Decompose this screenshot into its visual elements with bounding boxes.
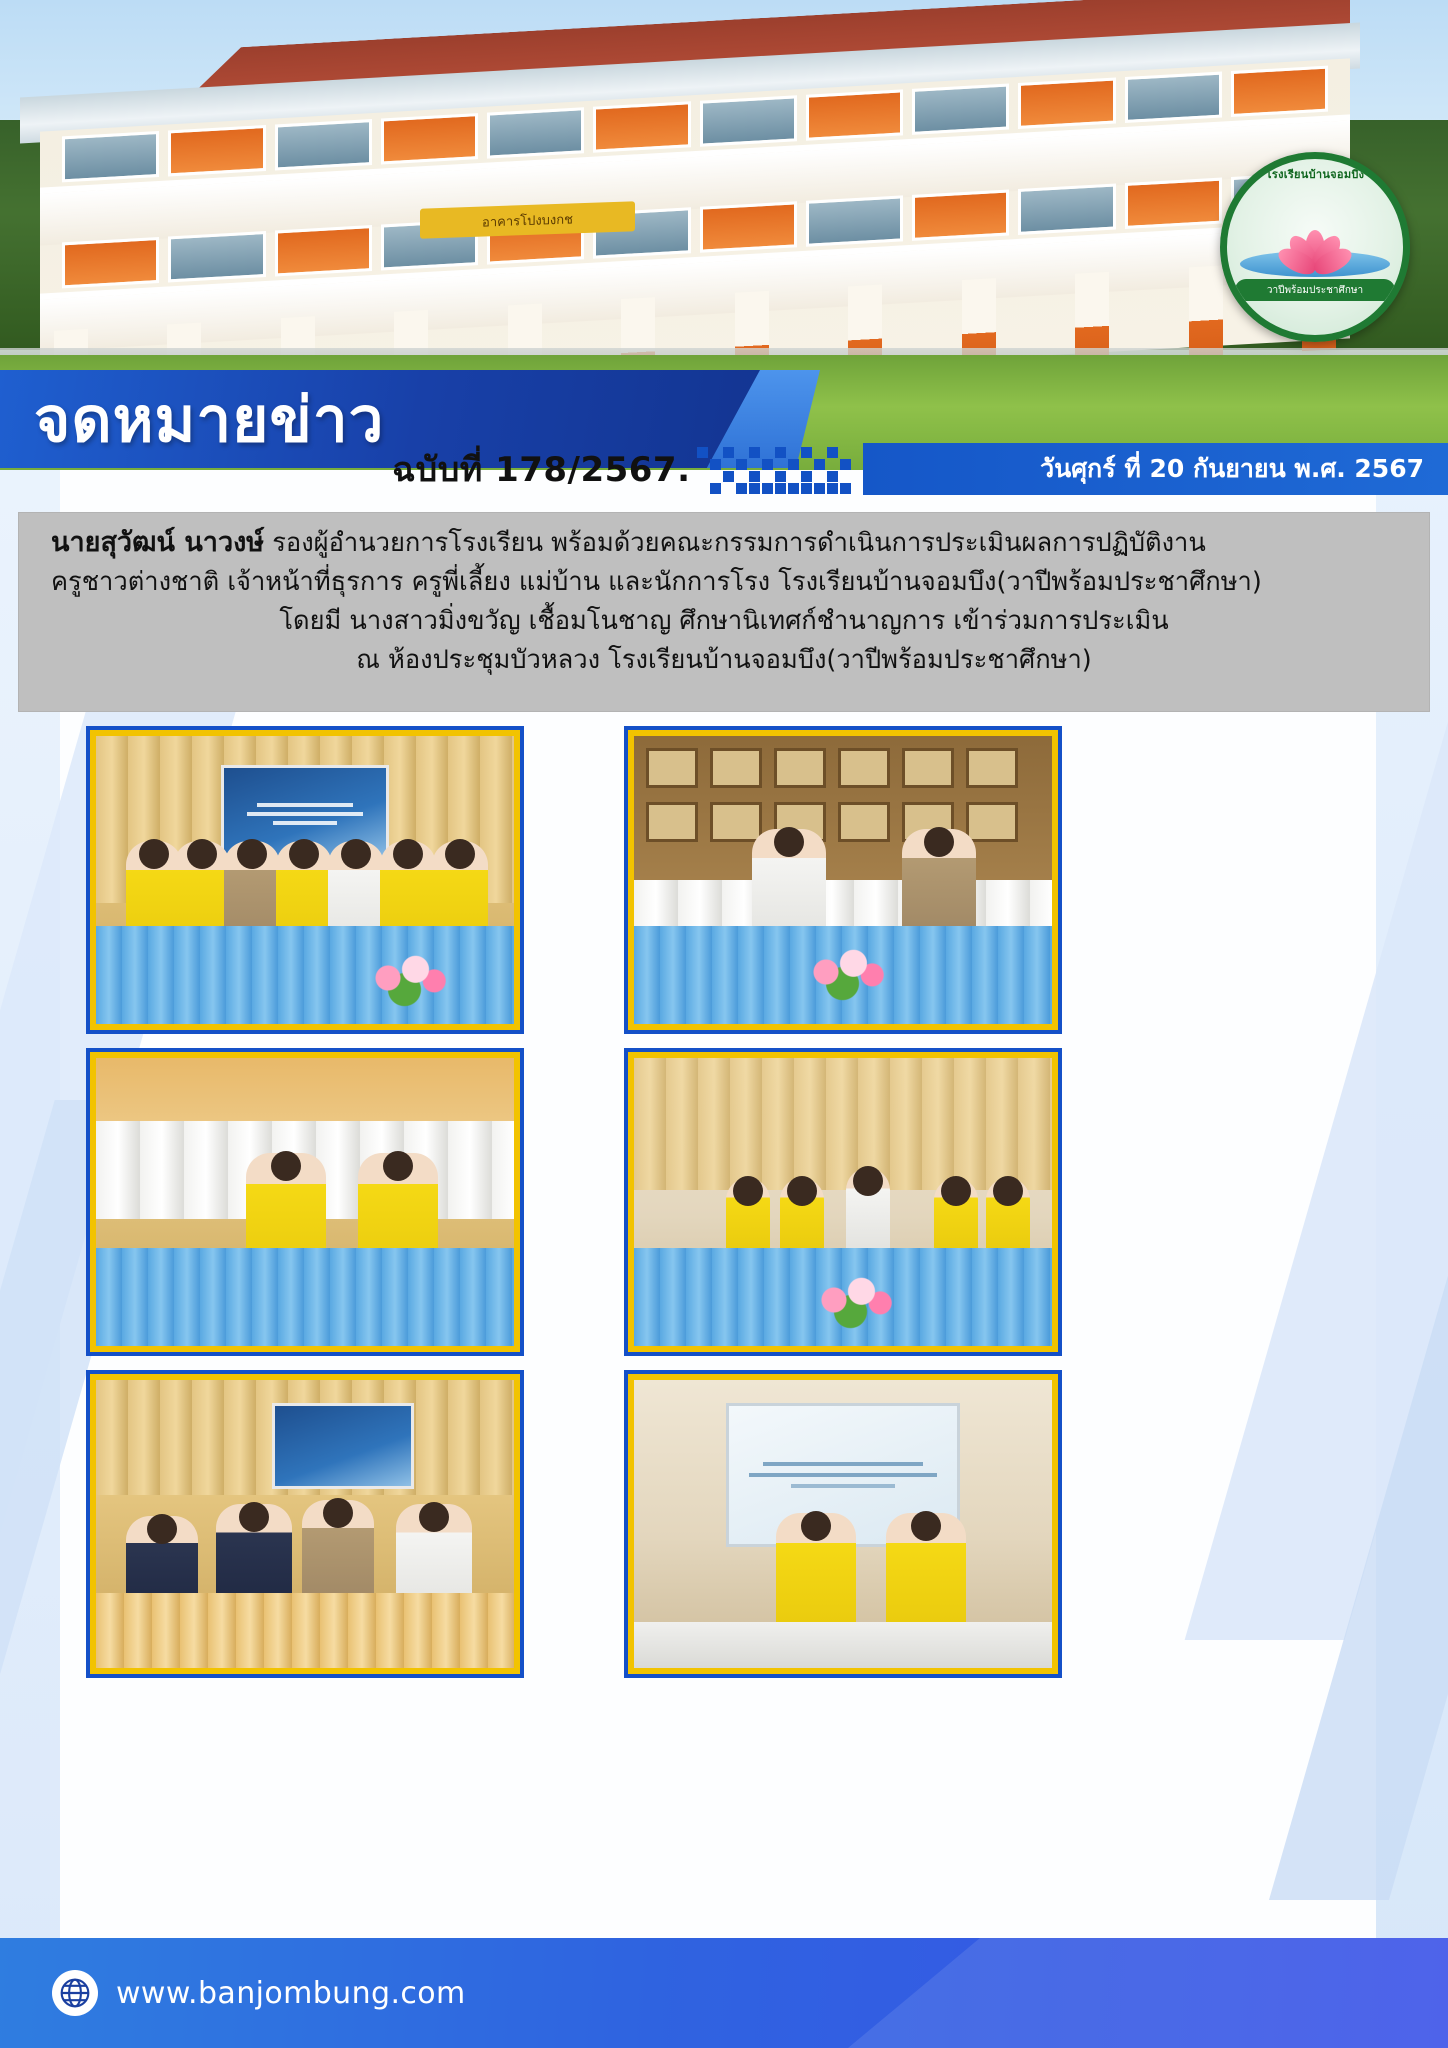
desc-line-4: ณ ห้องประชุมบัวหลวง โรงเรียนบ้านจอมบึง(ว… bbox=[37, 641, 1411, 680]
gallery-photo-5[interactable] bbox=[90, 1374, 520, 1674]
logo-school-name: โรงเรียนบ้านจอมบึง bbox=[1227, 165, 1403, 183]
banner-meta-row: ฉบับที่ 178/2567. วันศุกร์ ที่ 20 กันยาย… bbox=[380, 440, 1448, 498]
title-banner: จดหมายข่าว ฉบับที่ 178/2567. วันศุกร์ ที… bbox=[0, 370, 1448, 498]
gallery-photo-4[interactable] bbox=[628, 1052, 1058, 1352]
page-title: จดหมายข่าว bbox=[34, 378, 384, 462]
issue-number: ฉบับที่ 178/2567. bbox=[380, 442, 691, 496]
school-logo: โรงเรียนบ้านจอมบึง วาปีพร้อมประชาศึกษา bbox=[1220, 152, 1410, 342]
lead-person-name: นายสุวัฒน์ นาวงษ์ bbox=[51, 527, 264, 558]
lotus-icon bbox=[1279, 218, 1351, 270]
footer-bar: www.banjombung.com bbox=[0, 1938, 1448, 2048]
gallery-photo-6[interactable] bbox=[628, 1374, 1058, 1674]
globe-icon bbox=[52, 1970, 98, 2016]
desc-line-1-rest: รองผู้อำนวยการโรงเรียน พร้อมด้วยคณะกรรมก… bbox=[264, 528, 1206, 558]
footer-decoration bbox=[848, 1938, 1448, 2048]
desc-line-2: ครูชาวต่างชาติ เจ้าหน้าที่ธุรการ ครูพี่เ… bbox=[37, 563, 1411, 602]
news-description: นายสุวัฒน์ นาวงษ์ รองผู้อำนวยการโรงเรียน… bbox=[18, 512, 1430, 712]
photo-gallery bbox=[90, 730, 1360, 1930]
pixel-decoration bbox=[697, 443, 857, 495]
gallery-photo-1[interactable] bbox=[90, 730, 520, 1030]
desc-line-1: นายสุวัฒน์ นาวงษ์ รองผู้อำนวยการโรงเรียน… bbox=[37, 523, 1411, 563]
desc-line-3: โดยมี นางสาวมิ่งขวัญ เชื้อมโนชาญ ศึกษานิ… bbox=[37, 602, 1411, 641]
website-url[interactable]: www.banjombung.com bbox=[116, 1976, 466, 2011]
gallery-photo-3[interactable] bbox=[90, 1052, 520, 1352]
logo-ribbon-text: วาปีพร้อมประชาศึกษา bbox=[1235, 279, 1395, 301]
gallery-photo-2[interactable] bbox=[628, 730, 1058, 1030]
publication-date: วันศุกร์ ที่ 20 กันยายน พ.ศ. 2567 bbox=[863, 443, 1448, 495]
